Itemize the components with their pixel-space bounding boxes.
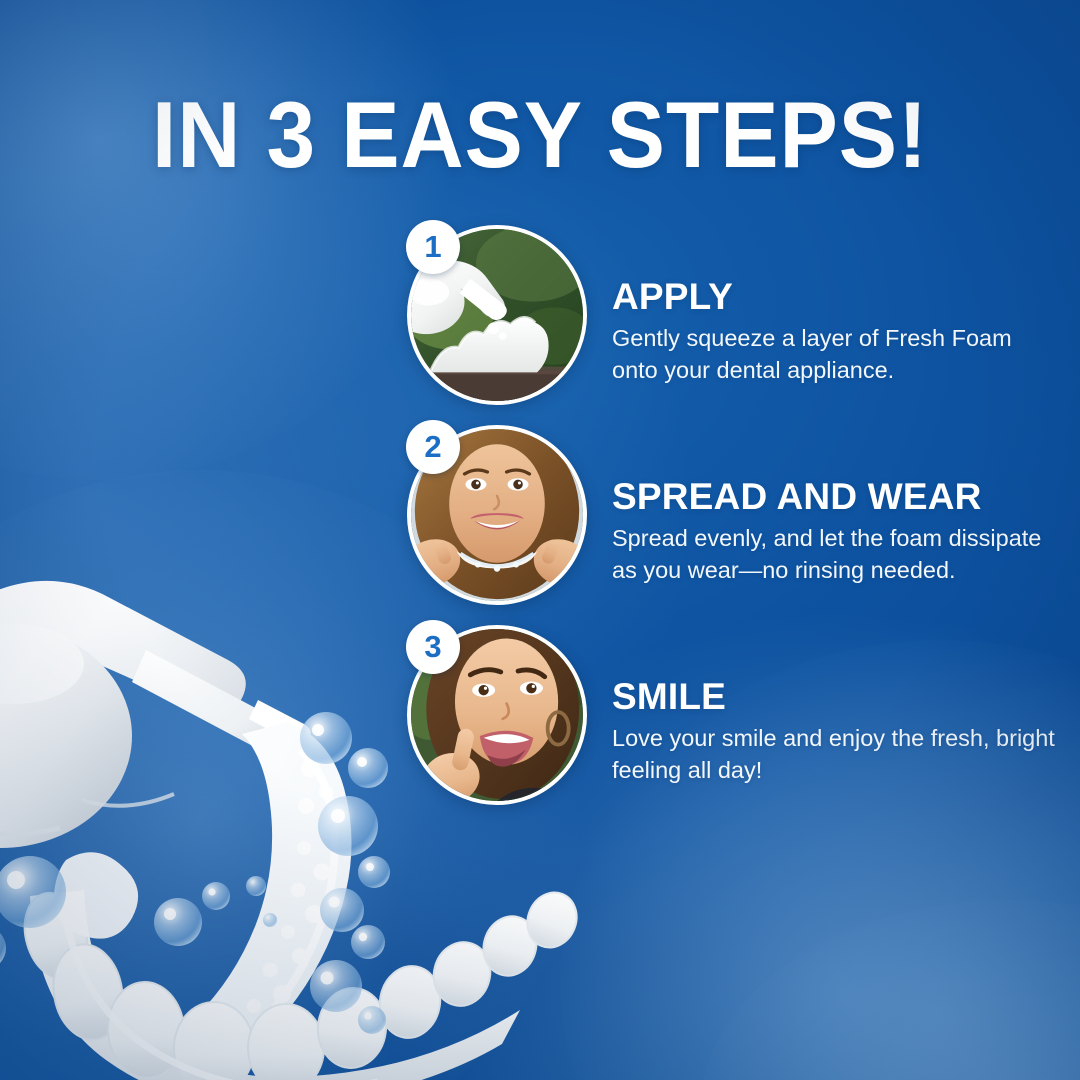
step-title: APPLY [612,278,1062,316]
foam-bottle [0,581,311,848]
step-description: Spread evenly, and let the foam dissipat… [612,523,1062,586]
bubbles [0,712,390,1034]
step-copy: APPLY Gently squeeze a layer of Fresh Fo… [612,278,1062,386]
step-number-badge: 2 [406,420,460,474]
step-item: 2 [404,422,1064,622]
background-glow-top-left [0,0,460,480]
dental-arch [15,885,585,1080]
steps-list: 1 [404,222,1064,822]
step-title: SPREAD AND WEAR [612,478,1062,516]
foam-residue [54,852,138,938]
foam-stream [182,722,352,1056]
step-title: SMILE [612,678,1062,716]
step-photo-wrap: 2 [404,422,590,608]
step-number-badge: 3 [406,620,460,674]
step-photo-wrap: 1 [404,222,590,408]
step-copy: SPREAD AND WEAR Spread evenly, and let t… [612,478,1062,586]
step-description: Gently squeeze a layer of Fresh Foam ont… [612,323,1062,386]
step-number-badge: 1 [406,220,460,274]
step-description: Love your smile and enjoy the fresh, bri… [612,723,1062,786]
step-item: 1 [404,222,1064,422]
page-title: IN 3 EASY STEPS! [38,88,1042,182]
step-item: 3 [404,622,1064,822]
infographic-canvas: IN 3 EASY STEPS! 1 [0,0,1080,1080]
step-copy: SMILE Love your smile and enjoy the fres… [612,678,1062,786]
step-photo-wrap: 3 [404,622,590,808]
background-glow-arc [700,900,1080,1080]
